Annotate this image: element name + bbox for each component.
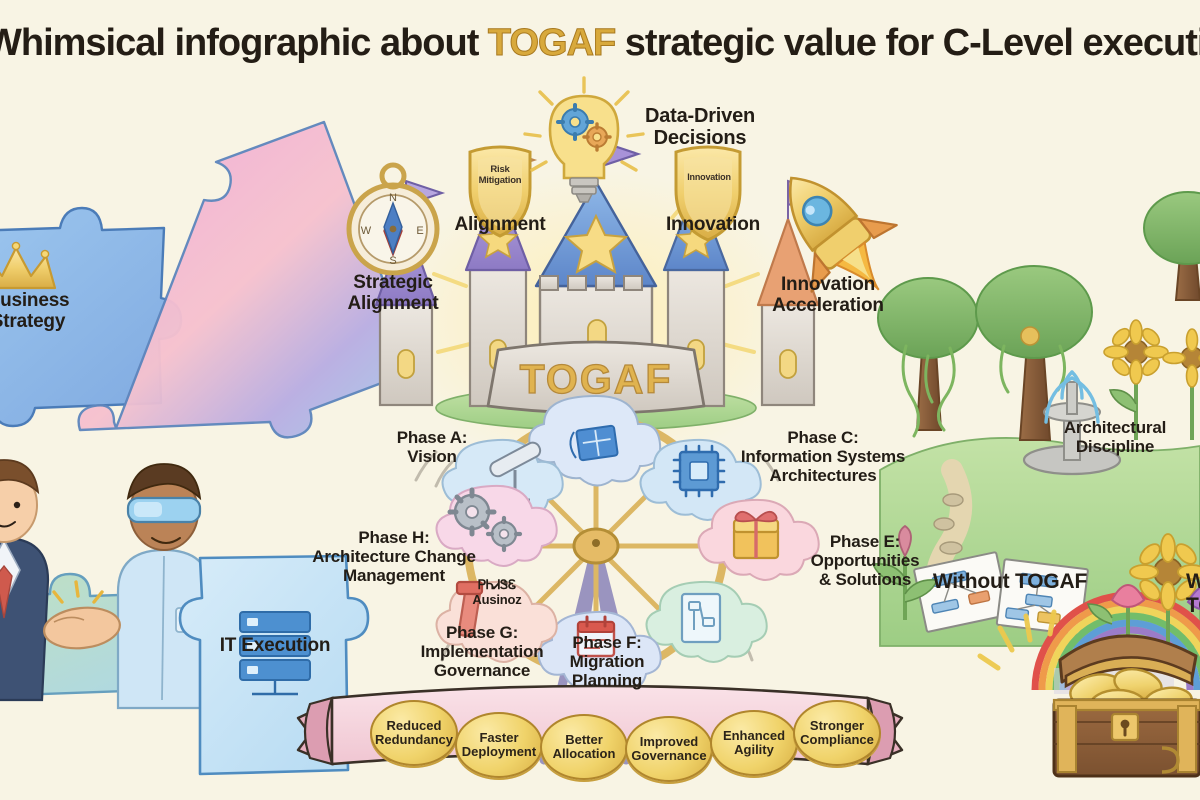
label-without-togaf: Without TOGAF: [925, 570, 1095, 594]
svg-text:S: S: [389, 255, 396, 267]
document-flow-icon: [682, 594, 720, 642]
compass-icon: N S W E: [349, 165, 437, 273]
microchip-icon: [674, 446, 724, 496]
svg-text:W: W: [361, 225, 372, 237]
label-architectural-discipline: Architectural Discipline: [1060, 418, 1170, 456]
trimmed-tree-icon: [1144, 192, 1200, 300]
label-innovation: Innovation: [648, 214, 778, 235]
benefit-coin[interactable]: Faster Deployment: [455, 712, 543, 778]
label-data-driven-decisions: Data-Driven Decisions: [625, 105, 775, 150]
puzzle-label-business-strategy: Business Strategy: [0, 290, 108, 333]
it-engineer-vr-goggles: [118, 464, 210, 708]
svg-text:N: N: [389, 192, 397, 204]
label-phase-e: Phase E: Opportunities & Solutions: [800, 532, 930, 589]
badge-text-risk-mitigation: Risk Mitigation: [470, 165, 530, 186]
badge-text-innovation: Innovation: [678, 172, 740, 182]
label-innovation-acceleration: Innovation Acceleration: [758, 274, 898, 317]
label-phase-h: Phase H: Architecture Change Management: [308, 528, 480, 585]
label-phase-a: Phase A: Vision: [372, 428, 492, 466]
svg-text:E: E: [416, 225, 423, 237]
business-executive-suit: [0, 460, 48, 700]
label-strategic-alignment: Strategic Alignment: [323, 272, 463, 315]
puzzle-label-it-execution: IT Execution: [195, 635, 355, 656]
label-phase-c: Phase C: Information Systems Architectur…: [740, 428, 906, 485]
benefit-coin[interactable]: Improved Governance: [625, 716, 713, 782]
gift-box-icon: [734, 512, 778, 558]
label-phase-g: Phase G: Implementation Governance: [400, 623, 564, 680]
label-phase-f: Phase F: Migration Planning: [552, 633, 662, 690]
benefit-coin[interactable]: Stronger Compliance: [793, 700, 881, 766]
label-alignment: Alignment: [435, 214, 565, 235]
label-with-togaf: With TOGAF: [1186, 570, 1200, 617]
benefit-coin[interactable]: Enhanced Agility: [710, 710, 798, 776]
benefit-coin[interactable]: Reduced Redundancy: [370, 700, 458, 766]
benefit-coin[interactable]: Better Allocation: [540, 714, 628, 780]
